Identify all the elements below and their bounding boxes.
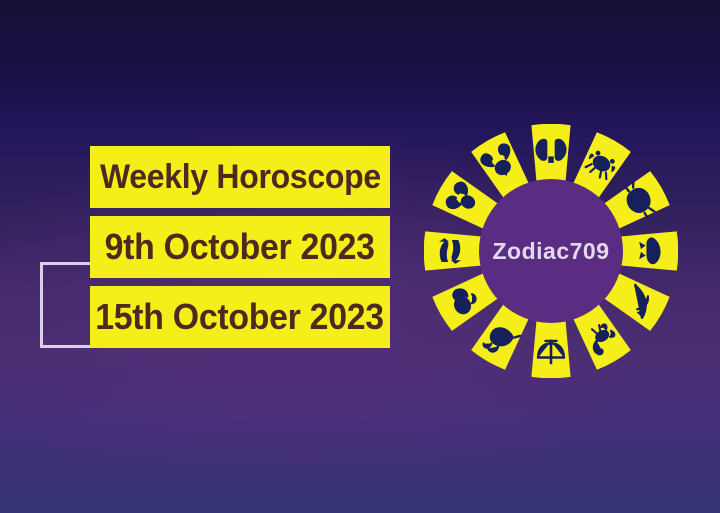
banner-stack: Weekly Horoscope 9th October 2023 15th O… bbox=[90, 146, 390, 348]
wheel-brand-label: Zodiac709 bbox=[493, 238, 610, 264]
banner-title-label: Weekly Horoscope bbox=[100, 160, 381, 194]
banner-start-date: 9th October 2023 bbox=[90, 216, 390, 278]
banner-start-date-label: 9th October 2023 bbox=[105, 229, 375, 265]
horoscope-poster: Weekly Horoscope 9th October 2023 15th O… bbox=[0, 0, 720, 513]
banner-end-date: 15th October 2023 bbox=[90, 286, 390, 348]
banner-end-date-label: 15th October 2023 bbox=[96, 299, 385, 335]
zodiac-wheel: Zodiac709 bbox=[424, 124, 678, 378]
banner-title: Weekly Horoscope bbox=[90, 146, 390, 208]
